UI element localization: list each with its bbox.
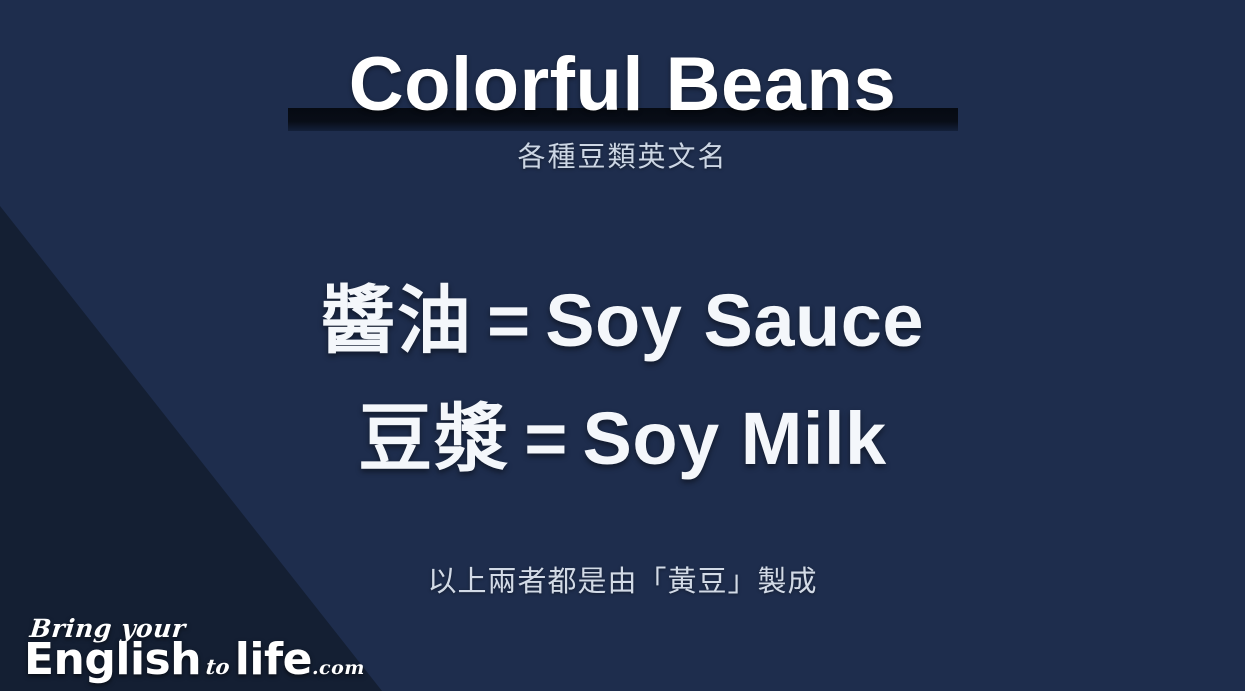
translation-row: 醬油=Soy Sauce bbox=[0, 262, 1245, 380]
footnote-text: 以上兩者都是由「黃豆」製成 bbox=[0, 563, 1245, 601]
equals-sign: = bbox=[510, 397, 582, 480]
brand-word-english: English bbox=[24, 634, 201, 685]
page-subtitle: 各種豆類英文名 bbox=[0, 140, 1245, 174]
english-term: Soy Sauce bbox=[545, 279, 924, 362]
brand-main-line: Englishtolife.com bbox=[24, 637, 365, 683]
translation-list: 醬油=Soy Sauce 豆漿=Soy Milk bbox=[0, 262, 1245, 498]
chinese-term: 醬油 bbox=[321, 279, 473, 362]
brand-word-life: life bbox=[235, 634, 312, 685]
brand-logo: Bring your Englishtolife.com bbox=[22, 609, 352, 683]
equals-sign: = bbox=[473, 279, 545, 362]
brand-tld: .com bbox=[312, 657, 365, 679]
slide-canvas: Colorful Beans 各種豆類英文名 醬油=Soy Sauce 豆漿=S… bbox=[0, 0, 1245, 691]
english-term: Soy Milk bbox=[583, 397, 887, 480]
chinese-term: 豆漿 bbox=[358, 397, 510, 480]
brand-connector-to: to bbox=[200, 654, 236, 679]
page-title: Colorful Beans bbox=[0, 44, 1245, 126]
translation-row: 豆漿=Soy Milk bbox=[0, 380, 1245, 498]
title-block: Colorful Beans 各種豆類英文名 bbox=[0, 44, 1245, 126]
